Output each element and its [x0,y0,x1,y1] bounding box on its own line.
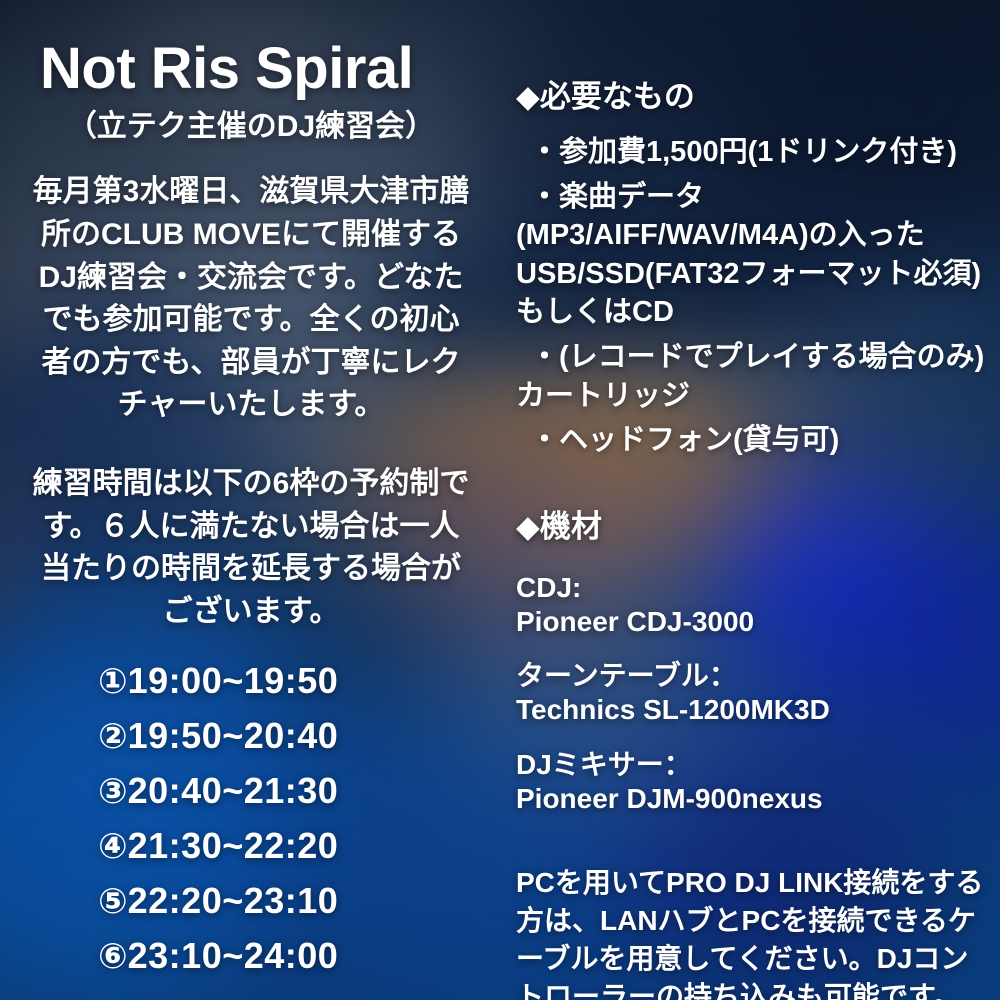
list-item: ⑥23:10~24:00 [98,938,488,974]
poster-content: Not Ris Spiral （立テク主催のDJ練習会） 毎月第3水曜日、滋賀県… [0,0,1000,1000]
slot-number: ① [98,662,128,701]
section-heading-needed: ◆必要なもの [516,0,994,115]
time-slot-list: ①19:00~19:50 ②19:50~20:40 ③20:40~21:30 ④… [14,663,488,974]
gear-value: Pioneer CDJ-3000 [516,605,994,639]
list-item: CDJ: Pioneer CDJ-3000 [516,571,994,639]
slot-time: 19:00~19:50 [128,660,339,701]
gear-items-list: CDJ: Pioneer CDJ-3000 ターンテーブル： Technics … [516,571,994,816]
slot-time: 23:10~24:00 [128,935,339,976]
slot-number: ② [98,717,128,756]
list-item: ①19:00~19:50 [98,663,488,699]
list-item: ⑤22:20~23:10 [98,883,488,919]
gear-note-paragraph: PCを用いてPRO DJ LINK接続をする方は、LANハブとPCを接続できるケ… [516,864,994,1000]
slot-number: ④ [98,827,128,866]
list-item: ②19:50~20:40 [98,718,488,754]
list-item: DJミキサー： Pioneer DJM-900nexus [516,748,994,816]
gear-label: ターンテーブル： [516,659,994,693]
gear-value: Technics SL-1200MK3D [516,693,994,727]
page-title: Not Ris Spiral [14,0,488,99]
list-item: ターンテーブル： Technics SL-1200MK3D [516,659,994,727]
schedule-note-paragraph: 練習時間は以下の6枠の予約制です。６人に満たない場合は一人当たりの時間を延長する… [30,463,472,633]
slot-number: ⑤ [98,882,128,921]
slot-time: 19:50~20:40 [128,715,339,756]
gear-label: DJミキサー： [516,748,994,782]
gear-label: CDJ: [516,571,994,605]
section-heading-gear: ◆機材 [516,466,994,545]
right-column: ◆必要なもの ・参加費1,500円(1ドリンク付き) ・楽曲データ(MP3/AI… [516,0,994,1000]
list-item: ③20:40~21:30 [98,773,488,809]
slot-time: 22:20~23:10 [128,880,339,921]
slot-number: ③ [98,772,128,811]
page-subtitle: （立テク主催のDJ練習会） [14,109,488,145]
intro-paragraph: 毎月第3水曜日、滋賀県大津市膳所のCLUB MOVEにて開催するDJ練習会・交流… [30,171,472,427]
left-column: Not Ris Spiral （立テク主催のDJ練習会） 毎月第3水曜日、滋賀県… [14,0,488,993]
list-item: ④21:30~22:20 [98,828,488,864]
slot-time: 21:30~22:20 [128,825,339,866]
list-item: ・(レコードでプレイする場合のみ)カートリッジ [516,338,994,415]
slot-number: ⑥ [98,937,128,976]
list-item: ・楽曲データ(MP3/AIFF/WAV/M4A)の入ったUSB/SSD(FAT3… [516,178,994,332]
needed-items-list: ・参加費1,500円(1ドリンク付き) ・楽曲データ(MP3/AIFF/WAV/… [516,133,994,460]
slot-time: 20:40~21:30 [128,770,339,811]
list-item: ・ヘッドフォン(貸与可) [516,421,994,460]
list-item: ・参加費1,500円(1ドリンク付き) [516,133,994,172]
poster: Not Ris Spiral （立テク主催のDJ練習会） 毎月第3水曜日、滋賀県… [0,0,1000,1000]
gear-value: Pioneer DJM-900nexus [516,782,994,816]
